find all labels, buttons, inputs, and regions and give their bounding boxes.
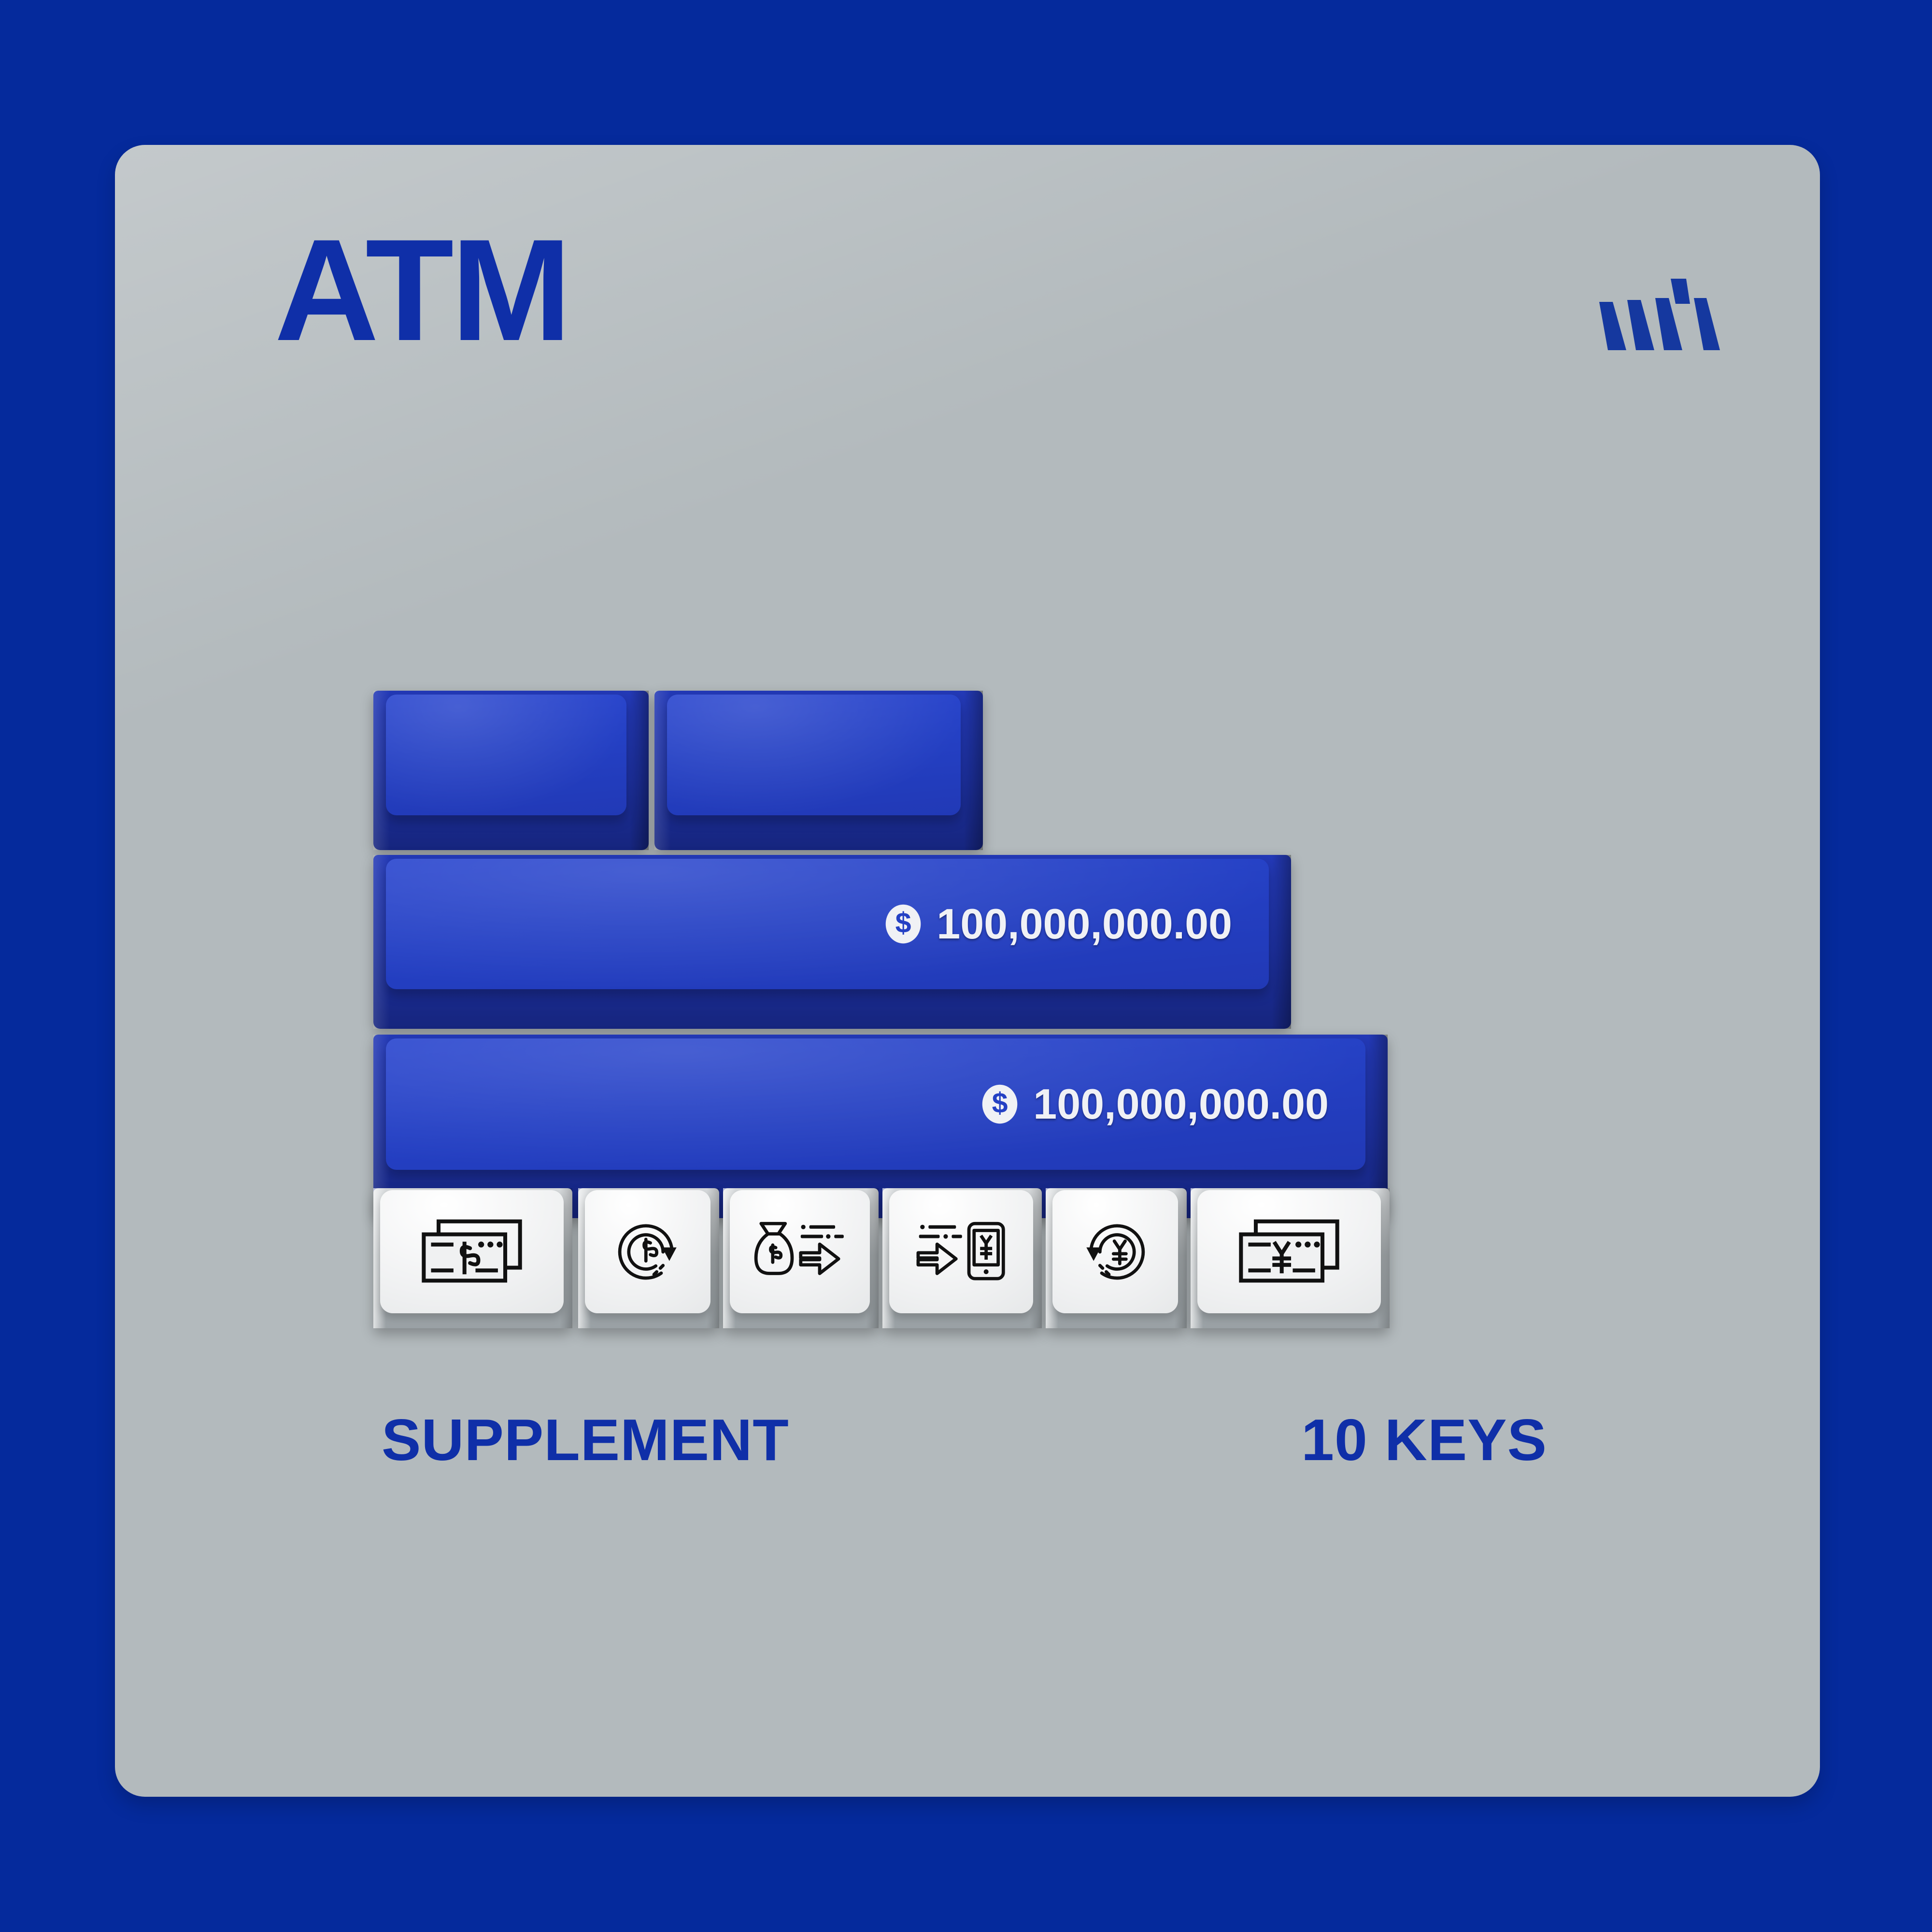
dollar-coin-icon: $	[979, 1083, 1021, 1125]
keycap-group: $ 100,000,000.00 $ 100,000,000.00	[373, 691, 1542, 1328]
keycap-top-face	[386, 695, 626, 815]
poster-canvas: ATM	[0, 0, 1932, 1932]
keycap-top-face: $ 100,000,000.00	[386, 859, 1269, 989]
yen-coin-refresh-down-icon	[1075, 1211, 1156, 1293]
yen-mobile-transfer-key[interactable]	[882, 1188, 1042, 1328]
amount-legend: $ 100,000,000.00	[882, 899, 1232, 949]
keycap-top-face	[1197, 1190, 1381, 1313]
blank-blue-key-2[interactable]	[654, 691, 983, 850]
angled-bars-logo	[1591, 268, 1721, 360]
dollar-refund-key[interactable]	[578, 1188, 719, 1328]
moneybag-dollar-arrow-right-icon	[753, 1213, 847, 1291]
keycap-top-face	[380, 1190, 564, 1313]
svg-text:$: $	[992, 1086, 1008, 1119]
arrow-right-phone-yen-icon	[914, 1213, 1009, 1291]
keycap-top-face: $ 100,000,000.00	[386, 1038, 1365, 1170]
amount-value: 100,000,000.00	[1033, 1080, 1329, 1129]
keycap-top-face	[730, 1190, 870, 1313]
keycap-top-face	[889, 1190, 1033, 1313]
amount-bar-1[interactable]: $ 100,000,000.00	[373, 855, 1291, 1029]
dollar-coin-refresh-down-icon	[607, 1211, 688, 1293]
yen-banknotes-icon	[1234, 1213, 1345, 1291]
page-title: ATM	[274, 217, 569, 362]
dollar-banknotes-key[interactable]	[373, 1188, 572, 1328]
dollar-moneybag-send-key[interactable]	[723, 1188, 879, 1328]
keycap-top-face	[1052, 1190, 1178, 1313]
product-card: ATM	[115, 145, 1820, 1797]
keycap-top-face	[585, 1190, 710, 1313]
key-count-label: 10 KEYS	[1301, 1410, 1547, 1469]
dollar-banknotes-icon	[416, 1213, 527, 1291]
yen-refund-key[interactable]	[1046, 1188, 1187, 1328]
supplement-label: SUPPLEMENT	[382, 1410, 789, 1469]
blank-blue-key-1[interactable]	[373, 691, 649, 850]
svg-text:$: $	[895, 906, 911, 938]
amount-legend: $ 100,000,000.00	[979, 1080, 1329, 1129]
dollar-coin-icon: $	[882, 903, 924, 945]
keycap-top-face	[667, 695, 961, 815]
yen-banknotes-key[interactable]	[1191, 1188, 1390, 1328]
amount-value: 100,000,000.00	[937, 899, 1232, 949]
